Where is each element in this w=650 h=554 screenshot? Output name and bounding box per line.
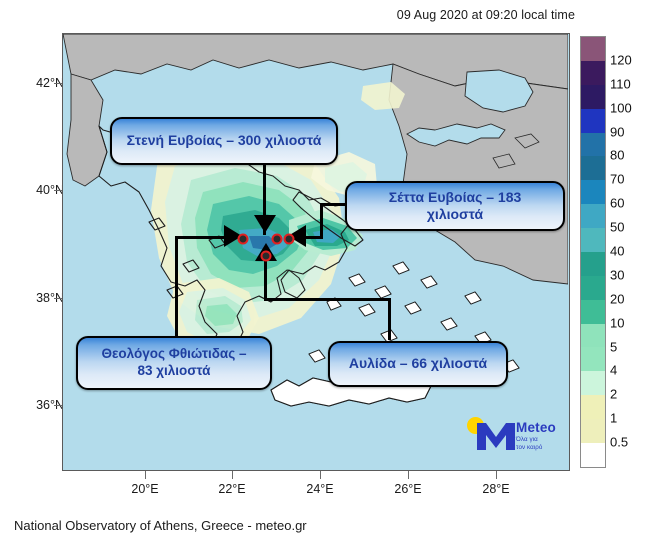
colorbar-tick-label: 80 — [610, 148, 624, 163]
colorbar-tick-label: 70 — [610, 172, 624, 187]
station-marker[interactable] — [272, 234, 283, 245]
colorbar-tick-label: 120 — [610, 52, 632, 67]
arrow-down-icon — [254, 215, 276, 233]
colorbar-tick-label: 5 — [610, 339, 617, 354]
x-tick-label: 24°E — [306, 482, 333, 496]
callout-steni-evias[interactable]: Στενή Ευβοίας – 300 χιλιοστά — [110, 117, 338, 165]
colorbar-segment — [581, 109, 605, 133]
leader-line — [320, 203, 345, 206]
logo-tagline-line2: τον καιρό — [516, 444, 542, 452]
colorbar-segment — [581, 156, 605, 180]
leader-line — [175, 236, 178, 336]
colorbar-segment — [581, 324, 605, 348]
logo-tagline-line1: Όλα για — [516, 436, 542, 444]
callout-text: 83 χιλιοστά — [102, 363, 247, 380]
callout-text: χιλιοστά — [389, 206, 522, 224]
station-marker[interactable] — [261, 251, 272, 262]
colorbar-segment — [581, 276, 605, 300]
colorbar-segment — [581, 204, 605, 228]
colorbar-tick-label: 4 — [610, 363, 617, 378]
chart-title: 09 Aug 2020 at 09:20 local time — [0, 8, 575, 22]
logo-tagline: Όλα για τον καιρό — [516, 436, 542, 453]
colorbar-tick-label: 60 — [610, 196, 624, 211]
colorbar-tick-label: 10 — [610, 315, 624, 330]
colorbar-tick-label: 40 — [610, 244, 624, 259]
map-graphics — [63, 34, 568, 469]
x-tick-label: 22°E — [218, 482, 245, 496]
station-marker[interactable] — [284, 234, 295, 245]
callout-text: Στενή Ευβοίας – 300 χιλιοστά — [127, 132, 322, 150]
x-tick-mark — [320, 471, 321, 479]
colorbar-segment — [581, 228, 605, 252]
y-tick-mark — [54, 298, 62, 299]
colorbar-tick-label: 50 — [610, 220, 624, 235]
colorbar-segment — [581, 252, 605, 276]
colorbar-segment — [581, 419, 605, 443]
logo-m-icon — [475, 421, 517, 451]
y-tick-mark — [54, 190, 62, 191]
callout-text: Αυλίδα – 66 χιλιοστά — [349, 355, 487, 373]
x-tick-label: 26°E — [394, 482, 421, 496]
colorbar-tick-label: 100 — [610, 100, 632, 115]
colorbar-segment — [581, 133, 605, 157]
source-attribution: National Observatory of Athens, Greece -… — [14, 518, 307, 533]
colorbar-segment — [581, 443, 605, 467]
precipitation-map[interactable] — [62, 33, 570, 471]
x-tick-mark — [408, 471, 409, 479]
colorbar-segment — [581, 395, 605, 419]
leader-line — [264, 258, 267, 300]
colorbar-segment — [581, 85, 605, 109]
colorbar-tick-label: 90 — [610, 124, 624, 139]
y-tick-mark — [54, 405, 62, 406]
logo-name: Meteo — [516, 420, 556, 435]
leader-line — [388, 300, 391, 340]
colorbar-segment — [581, 371, 605, 395]
colorbar-tick-label: 2 — [610, 387, 617, 402]
colorbar-tick-label: 1 — [610, 411, 617, 426]
colorbar-tick-label: 30 — [610, 267, 624, 282]
x-tick-mark — [496, 471, 497, 479]
callout-theologos-fthiotidas[interactable]: Θεολόγος Φθιώτιδας – 83 χιλιοστά — [76, 336, 272, 390]
colorbar-segment — [581, 300, 605, 324]
colorbar-segment — [581, 347, 605, 371]
x-tick-label: 28°E — [482, 482, 509, 496]
station-marker[interactable] — [238, 234, 249, 245]
x-tick-mark — [232, 471, 233, 479]
x-tick-mark — [145, 471, 146, 479]
meteo-logo[interactable]: Meteo Όλα για τον καιρό — [464, 413, 564, 455]
colorbar-tick-label: 20 — [610, 291, 624, 306]
callout-text: Θεολόγος Φθιώτιδας – — [102, 346, 247, 363]
callout-setta-evias[interactable]: Σέττα Ευβοίας – 183 χιλιοστά — [345, 181, 565, 231]
callout-avlida[interactable]: Αυλίδα – 66 χιλιοστά — [328, 341, 508, 387]
callout-text: Σέττα Ευβοίας – 183 — [389, 189, 522, 207]
y-tick-mark — [54, 83, 62, 84]
colorbar-segment — [581, 61, 605, 85]
x-tick-label: 20°E — [131, 482, 158, 496]
colorbar-tick-label: 110 — [610, 76, 631, 91]
colorbar — [580, 36, 606, 468]
leader-line — [264, 298, 391, 301]
colorbar-tick-label: 0.5 — [610, 435, 628, 450]
colorbar-segment — [581, 37, 605, 61]
colorbar-segment — [581, 180, 605, 204]
leader-line — [320, 203, 323, 238]
